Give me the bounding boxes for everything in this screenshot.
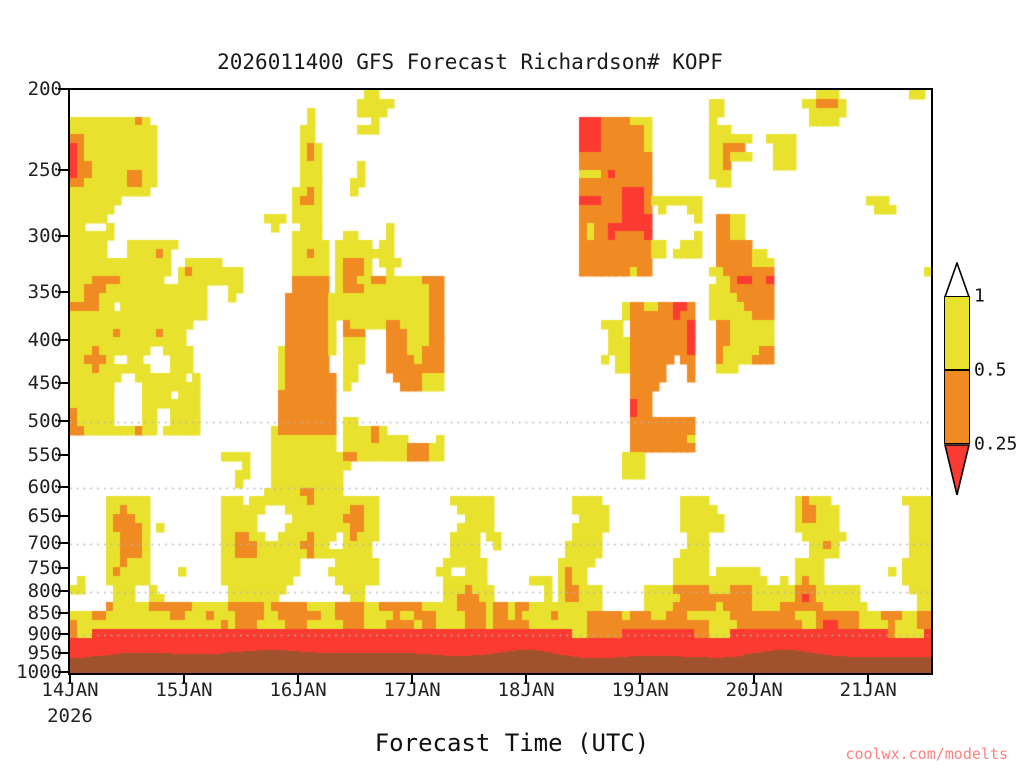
y-tick-label: 650 [28, 505, 62, 527]
plot-area [68, 88, 933, 675]
y-axis-tick [58, 454, 68, 456]
y-axis-tick [58, 339, 68, 341]
y-axis-tick [58, 542, 68, 544]
y-tick-label: 800 [28, 580, 62, 602]
y-axis-tick [58, 382, 68, 384]
y-axis-tick [58, 652, 68, 654]
colorbar: 10.50.25 [944, 296, 970, 444]
y-tick-label: 750 [28, 557, 62, 579]
y-tick-label: 300 [28, 225, 62, 247]
x-axis-tick [639, 675, 641, 683]
watermark: coolwx.com/modelts [845, 745, 1008, 763]
y-tick-label: 700 [28, 532, 62, 554]
y-tick-label: 550 [28, 444, 62, 466]
x-axis-tick [753, 675, 755, 683]
y-tick-label: 400 [28, 329, 62, 351]
chart-title: 2026011400 GFS Forecast Richardson# KOPF [0, 50, 940, 74]
y-axis-labels: 2002503003504004505005506006507007508008… [0, 88, 62, 675]
y-axis-tick [58, 633, 68, 635]
y-axis-tick [58, 567, 68, 569]
x-axis-tick [411, 675, 413, 683]
y-axis-tick [58, 515, 68, 517]
y-tick-label: 200 [28, 78, 62, 100]
x-axis-tick [297, 675, 299, 683]
colorbar-label: 0.25 [974, 434, 1017, 455]
richardson-heatmap-canvas [70, 90, 931, 673]
y-tick-label: 600 [28, 476, 62, 498]
y-axis-tick [58, 486, 68, 488]
y-tick-label: 250 [28, 159, 62, 181]
colorbar-segment-orange [944, 370, 970, 444]
x-axis-tick [69, 675, 71, 683]
colorbar-label: 1 [974, 286, 985, 307]
x-axis-year-label: 2026 [47, 705, 93, 727]
y-tick-label: 450 [28, 372, 62, 394]
y-axis-tick [58, 671, 68, 673]
y-tick-label: 350 [28, 281, 62, 303]
y-axis-tick [58, 88, 68, 90]
y-axis-tick [58, 612, 68, 614]
x-axis-tick [867, 675, 869, 683]
x-axis-tick [183, 675, 185, 683]
y-axis-tick [58, 169, 68, 171]
y-tick-label: 850 [28, 602, 62, 624]
colorbar-segment-yellow [944, 296, 970, 370]
colorbar-top-arrow [944, 262, 970, 298]
y-axis-tick [58, 590, 68, 592]
y-axis-tick [58, 291, 68, 293]
y-tick-label: 500 [28, 410, 62, 432]
colorbar-bottom-arrow [944, 444, 970, 480]
chart-page: 2026011400 GFS Forecast Richardson# KOPF… [0, 0, 1024, 768]
colorbar-label: 0.5 [974, 360, 1007, 381]
x-axis-tick [525, 675, 527, 683]
y-axis-tick [58, 420, 68, 422]
y-axis-tick [58, 235, 68, 237]
